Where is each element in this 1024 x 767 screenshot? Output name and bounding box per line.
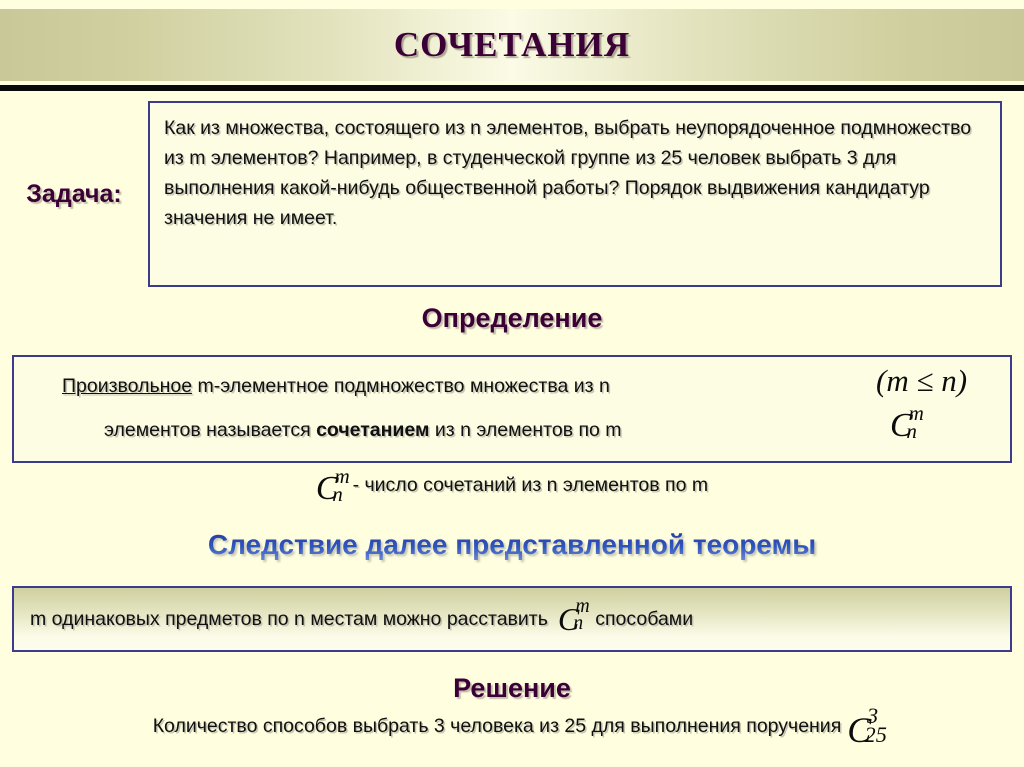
definition-line-2-before: элементов называется (104, 419, 316, 441)
combinations-formula-solution: C325 (847, 712, 871, 748)
definition-line-1-rest: m-элементное подмножество множества из n (192, 375, 610, 397)
definition-bold-term: сочетанием (316, 419, 429, 441)
task-text: Как из множества, состоящего из n элемен… (164, 113, 992, 233)
definition-line-2: элементов называется сочетанием из n эле… (104, 419, 622, 442)
combinations-formula-corollary: Cmn (558, 603, 579, 635)
corollary-text-after: способами (595, 608, 693, 631)
corollary-box: m одинаковых предметов по n местам можно… (12, 586, 1012, 652)
notation-line: Cmn - число сочетаний из n элементов по … (0, 472, 1024, 506)
solution-heading: Решение (0, 673, 1024, 704)
solution-text: Количество способов выбрать 3 человека и… (153, 715, 842, 737)
inequality-formula: (m ≤ n) (876, 365, 967, 396)
title-band: СОЧЕТАНИЯ (0, 9, 1024, 81)
definition-line-1: Произвольное m-элементное подмножество м… (62, 375, 610, 398)
page-title: СОЧЕТАНИЯ (394, 25, 630, 65)
corollary-text-before: m одинаковых предметов по n местам можно… (30, 608, 548, 631)
corollary-heading: Следствие далее представленной теоремы (0, 529, 1024, 561)
task-label: Задача: (0, 180, 148, 209)
combinations-formula-definition: Cmn (890, 409, 913, 443)
definition-box: Произвольное m-элементное подмножество м… (12, 355, 1012, 463)
task-text-box: Как из множества, состоящего из n элемен… (148, 101, 1002, 287)
definition-underlined-word: Произвольное (62, 375, 192, 397)
definition-line-2-after: из n элементов по m (429, 419, 621, 441)
definition-heading: Определение (0, 303, 1024, 334)
formula-subscript: n (573, 614, 583, 634)
solution-line: Количество способов выбрать 3 человека и… (0, 712, 1024, 748)
notation-text: - число сочетаний из n элементов по m (353, 474, 709, 496)
formula-subscript: n (906, 421, 917, 442)
combinations-formula-notation: Cmn (316, 472, 339, 506)
formula-subscript: 25 (865, 724, 887, 746)
formula-subscript: n (332, 484, 343, 505)
task-section: Задача: Как из множества, состоящего из … (0, 99, 1024, 289)
title-divider-rule (0, 85, 1024, 91)
